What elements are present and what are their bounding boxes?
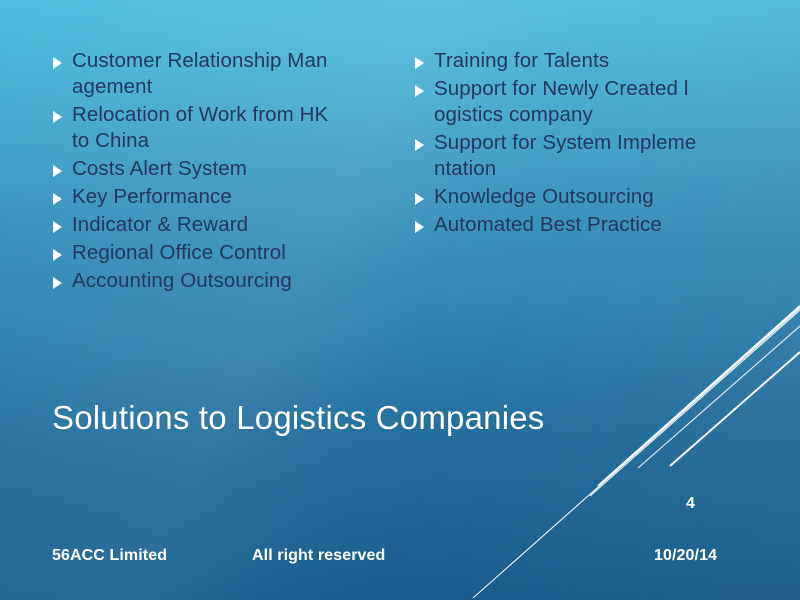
streak-line-5 bbox=[670, 352, 800, 466]
streak-line-2 bbox=[598, 306, 800, 486]
triangle-right-icon bbox=[414, 184, 434, 205]
slide-title: Solutions to Logistics Companies bbox=[52, 398, 672, 438]
list-item-label: Support for Newly Created l ogistics com… bbox=[434, 76, 754, 128]
bullet-list-right-column: Training for Talents Support for Newly C… bbox=[414, 48, 754, 240]
triangle-right-icon bbox=[52, 102, 72, 123]
list-item-label: Key Performance bbox=[72, 184, 388, 210]
triangle-right-icon bbox=[52, 184, 72, 205]
triangle-right-icon bbox=[414, 76, 434, 97]
triangle-right-icon bbox=[52, 48, 72, 69]
list-item[interactable]: Automated Best Practice bbox=[414, 212, 754, 238]
triangle-right-icon bbox=[52, 240, 72, 261]
list-item-label: Indicator & Reward bbox=[72, 212, 388, 238]
list-item-label: Regional Office Control bbox=[72, 240, 388, 266]
triangle-right-icon bbox=[52, 212, 72, 233]
presentation-slide: Customer Relationship Man agement Reloca… bbox=[0, 0, 800, 600]
diagonal-streak-lines-decoration bbox=[470, 300, 800, 600]
list-item[interactable]: Costs Alert System bbox=[52, 156, 388, 182]
list-item-label: Automated Best Practice bbox=[434, 212, 754, 238]
list-item[interactable]: Indicator & Reward bbox=[52, 212, 388, 238]
footer-rights-notice: All right reserved bbox=[252, 546, 385, 566]
list-item[interactable]: Key Performance bbox=[52, 184, 388, 210]
bullet-list-left-column: Customer Relationship Man agement Reloca… bbox=[52, 48, 388, 296]
list-item-label: Accounting Outsourcing bbox=[72, 268, 388, 294]
list-item-label: Training for Talents bbox=[434, 48, 754, 74]
list-item-label: Knowledge Outsourcing bbox=[434, 184, 754, 210]
footer-date: 10/20/14 bbox=[654, 546, 717, 566]
list-item-label: Customer Relationship Man agement bbox=[72, 48, 388, 100]
triangle-right-icon bbox=[414, 48, 434, 69]
list-item[interactable]: Accounting Outsourcing bbox=[52, 268, 388, 294]
list-item[interactable]: Support for Newly Created l ogistics com… bbox=[414, 76, 754, 128]
streak-line-1 bbox=[473, 308, 800, 598]
list-item-label: Support for System Impleme ntation bbox=[434, 130, 754, 182]
streak-line-4 bbox=[638, 326, 800, 468]
list-item[interactable]: Knowledge Outsourcing bbox=[414, 184, 754, 210]
list-item[interactable]: Regional Office Control bbox=[52, 240, 388, 266]
triangle-right-icon bbox=[414, 212, 434, 233]
triangle-right-icon bbox=[414, 130, 434, 151]
list-item[interactable]: Support for System Impleme ntation bbox=[414, 130, 754, 182]
list-item-label: Relocation of Work from HK to China bbox=[72, 102, 388, 154]
triangle-right-icon bbox=[52, 268, 72, 289]
list-item[interactable]: Relocation of Work from HK to China bbox=[52, 102, 388, 154]
triangle-right-icon bbox=[52, 156, 72, 177]
list-item-label: Costs Alert System bbox=[72, 156, 388, 182]
slide-number: 4 bbox=[686, 494, 695, 514]
footer-company-name: 56ACC Limited bbox=[52, 546, 167, 566]
list-item[interactable]: Customer Relationship Man agement bbox=[52, 48, 388, 100]
list-item[interactable]: Training for Talents bbox=[414, 48, 754, 74]
